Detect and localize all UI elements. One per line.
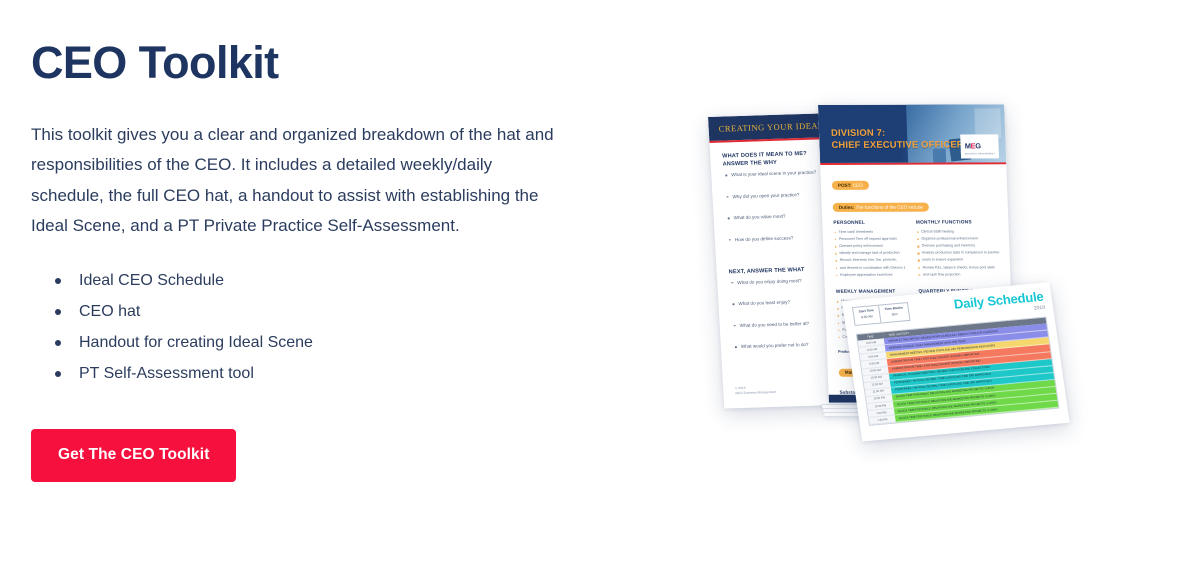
schedule-task-column: TASK / ACTIVITY ARRIVE AT THE OFFICE / R… [883,318,1059,423]
mini-table-value: 30m [891,312,898,317]
meg-logo-text: MEG [965,142,981,151]
list-item: Handout for creating Ideal Scene [53,327,591,358]
duty-item: and cash flow projection [918,271,1001,278]
get-ceo-toolkit-button[interactable]: Get The CEO Toolkit [31,429,236,482]
mini-table-value: 8:00 AM [861,314,873,319]
duty-item: Employee appreciation incentives [835,271,907,278]
section-heading-monthly-functions: MONTHLY FUNCTIONS [916,220,999,225]
toolkit-document-mockup: CREATING YOUR IDEAL SCENE WHAT DOES IT M… [690,105,1090,465]
post-label: POST: [838,183,852,188]
meg-logo: MEG BUSINESS MANAGEMENT [960,135,999,159]
front-doc-title: DIVISION 7:CHIEF EXECUTIVE OFFICER [831,126,964,151]
duties-pill: Duties: The functions of the CEO include [833,203,930,212]
list-item: CEO hat [53,296,591,327]
post-pill: POST: CEO [832,181,869,190]
schedule-title-wrap: Daily Schedule 2019 [953,290,1045,319]
hero-description: This toolkit gives you a clear and organ… [31,120,556,242]
document-daily-schedule: Start Time 8:00 AM Time Blocks 30m Daily… [842,282,1070,441]
section-heading-personnel: PERSONNEL [833,220,905,225]
section-heading-weekly-management: WEEKLY MANAGEMENT [836,290,908,295]
schedule-settings-table: Start Time 8:00 AM Time Blocks 30m [852,302,911,326]
meg-logo-subtitle: BUSINESS MANAGEMENT [965,153,995,155]
table-cell: Start Time 8:00 AM [853,306,881,325]
list-item: Ideal CEO Schedule [53,265,591,296]
page-title: CEO Toolkit [31,38,591,88]
front-doc-header: DIVISION 7:CHIEF EXECUTIVE OFFICER MEG B… [818,104,1006,163]
hero-content-column: CEO Toolkit This toolkit gives you a cle… [31,38,591,482]
list-item: PT Self-Assessment tool [53,358,591,389]
table-cell: Time Blocks 30m [879,303,909,322]
schedule-grid: TIME 8:00 AM8:30 AM9:00 AM9:30 AM10:00 A… [856,317,1060,427]
schedule-time-cell: 1:30 PM [869,416,896,425]
post-value: CEO [853,183,863,188]
landing-page-hero: CEO Toolkit This toolkit gives you a cle… [0,0,1180,582]
back-doc-footer: © 2019MEG Business Management [735,385,776,396]
duties-label: Duties: [839,205,855,210]
duties-value: The functions of the CEO include [855,204,923,209]
feature-list: Ideal CEO Schedule CEO hat Handout for c… [53,265,591,389]
